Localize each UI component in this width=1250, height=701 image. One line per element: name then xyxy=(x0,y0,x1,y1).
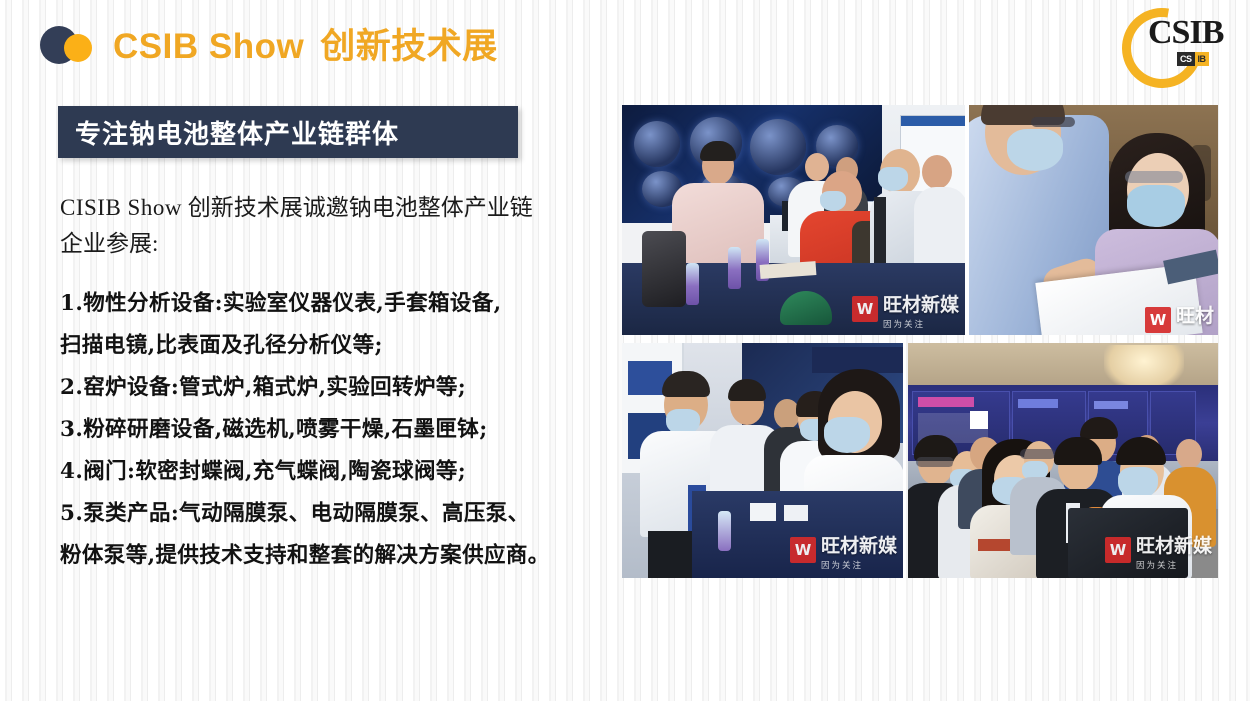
qr-code xyxy=(970,411,988,429)
sample-box xyxy=(750,503,776,521)
watermark-text: 旺材新媒 xyxy=(1136,535,1212,557)
booth-conversation-photo: W 旺材新媒 因为关注 xyxy=(622,343,903,578)
watermark-text: 旺材新媒 xyxy=(821,535,897,557)
watermark-subtext: 因为关注 xyxy=(883,320,925,330)
watermark-text: 旺材 xyxy=(1176,305,1214,327)
sample-box xyxy=(784,505,808,521)
two-circles-logo-icon xyxy=(38,24,98,68)
equipment-list: 1.物性分析设备:实验室仪器仪表,手套箱设备, 扫描电镜,比表面及孔径分析仪等;… xyxy=(60,284,620,576)
brand-badge: CS IB xyxy=(1177,52,1209,66)
list-item: 1.物性分析设备:实验室仪器仪表,手套箱设备, xyxy=(60,284,620,324)
watermark: W 旺材新媒 因为关注 xyxy=(1105,537,1212,572)
board-title xyxy=(1018,399,1058,408)
glasses-icon xyxy=(1031,117,1075,127)
list-item: 5.泵类产品:气动隔膜泵、电动隔膜泵、高压泵、 xyxy=(60,494,620,534)
intro-latin: CISIB Show xyxy=(60,195,182,220)
watermark-subtext: 因为关注 xyxy=(821,561,863,571)
intro-paragraph: CISIB Show 创新技术展诚邀钠电池整体产业链 企业参展: xyxy=(60,190,620,262)
page-title-cn: 创新技术展 xyxy=(320,27,498,67)
exhibition-crowd-photo: W 旺材新媒 因为关注 xyxy=(908,343,1218,578)
intro-line2: 企业参展: xyxy=(60,231,158,256)
body-content: CISIB Show 创新技术展诚邀钠电池整体产业链 企业参展: 1.物性分析设… xyxy=(60,190,620,578)
watermark: W 旺材新媒 因为关注 xyxy=(852,296,959,331)
board-title xyxy=(918,397,974,407)
document-review-photo: W 旺材 xyxy=(969,105,1218,335)
intro-cn: 创新技术展诚邀钠电池整体产业链 xyxy=(188,195,533,220)
photo-grid: W 旺材新媒 因为关注 xyxy=(622,105,1218,578)
list-item: 2.窑炉设备:管式炉,箱式炉,实验回转炉等; xyxy=(60,368,620,408)
board-title xyxy=(1094,401,1128,409)
list-item: 粉体泵等,提供技术支持和整套的解决方案供应商。 xyxy=(60,536,620,576)
logo-amber-circle-icon xyxy=(64,34,92,62)
slide-header: CSIB Show创新技术展 CSIB CS IB xyxy=(0,0,1250,88)
list-item: 4.阀门:软密封蝶阀,充气蝶阀,陶瓷球阀等; xyxy=(60,452,620,492)
watermark-text: 旺材新媒 xyxy=(883,294,959,316)
page-title-latin: CSIB Show xyxy=(113,27,304,66)
watermark-logo-icon: W xyxy=(790,537,816,563)
watermark-logo-icon: W xyxy=(852,296,878,322)
watermark-logo-icon: W xyxy=(1145,307,1171,333)
watermark: W 旺材新媒 因为关注 xyxy=(790,537,897,572)
slide-root: CSIB Show创新技术展 CSIB CS IB 专注钠电池整体产业链群体 C… xyxy=(0,0,1250,701)
glasses-icon xyxy=(1125,171,1183,183)
glasses-icon xyxy=(1020,449,1056,459)
page-title: CSIB Show创新技术展 xyxy=(113,18,498,69)
section-banner: 专注钠电池整体产业链群体 xyxy=(58,106,518,158)
booth-presentation-photo: W 旺材新媒 因为关注 xyxy=(622,105,965,335)
watermark: W 旺材 xyxy=(1145,307,1214,333)
brand-wordmark: CSIB xyxy=(1148,14,1223,52)
list-item: 扫描电镜,比表面及孔径分析仪等; xyxy=(60,326,620,366)
section-banner-label: 专注钠电池整体产业链群体 xyxy=(75,114,399,151)
brand-badge-dark: CS xyxy=(1177,52,1195,66)
glasses-icon xyxy=(916,457,954,467)
brand-badge-amber: IB xyxy=(1195,52,1209,66)
csib-brand-logo: CSIB CS IB xyxy=(1122,6,1234,78)
watermark-logo-icon: W xyxy=(1105,537,1131,563)
photo-scene xyxy=(969,105,1218,335)
list-item: 3.粉碎研磨设备,磁选机,喷雾干燥,石墨匣钵; xyxy=(60,410,620,450)
watermark-subtext: 因为关注 xyxy=(1136,561,1178,571)
water-bottle xyxy=(718,511,731,551)
valve-sample xyxy=(642,231,686,307)
